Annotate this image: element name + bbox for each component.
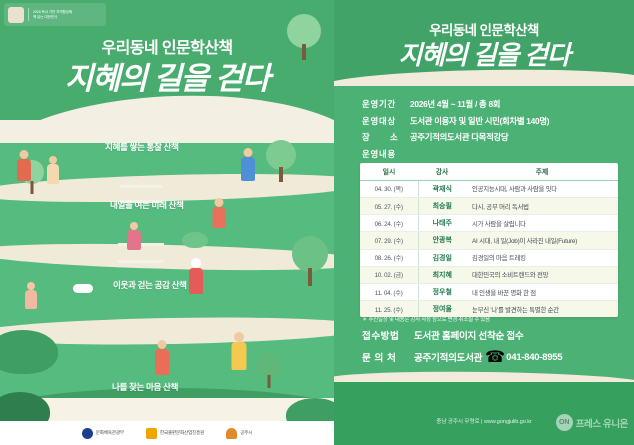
person-head xyxy=(27,282,35,290)
cell-lecturer: 최지혜 xyxy=(418,266,466,283)
person-head xyxy=(215,198,224,207)
gongju-logo-icon xyxy=(226,428,237,439)
person-figure xyxy=(22,282,40,316)
right-info-panel: 우리동네 인문학산책 지혜의 길을 걷다 운영기간 2026년 4월 ~ 11월… xyxy=(334,0,634,445)
schedule-table-body: 04. 30. (목) 곽재식 인공지능시대, 사람과 사람을 잇다 05. 2… xyxy=(360,180,618,317)
table-row: 07. 29. (수) 안광복 AI 시대, 내 일(Job)이 사라진 내일(… xyxy=(360,232,618,249)
tree-icon xyxy=(256,352,282,388)
cell-topic: AI 시대, 내 일(Job)이 사라진 내일(Future) xyxy=(466,232,618,249)
walk-label-2: 내일을 여는 미래 산책 xyxy=(110,199,184,211)
info-value: 공주기적의도서관 다목적강당 xyxy=(410,131,508,143)
cell-date: 06. 24. (수) xyxy=(360,215,418,232)
left-illustration-panel: 2026 독서 기반 지역활성화 책 읽는 대한민국 우리동네 인문학산책 지혜… xyxy=(0,0,334,445)
government-logo-icon xyxy=(82,428,93,439)
person-body xyxy=(155,349,169,375)
cell-lecturer: 정우철 xyxy=(418,283,466,300)
campaign-badge-text: 2026 독서 기반 지역활성화 책 읽는 대한민국 xyxy=(33,10,72,20)
sponsor-logo: 공주시 xyxy=(226,428,252,439)
walk-label-1: 지혜를 쌓는 통찰 산책 xyxy=(105,141,179,153)
info-key: 운영기간 xyxy=(362,98,410,110)
person-body xyxy=(241,157,255,181)
kpipa-logo-icon xyxy=(146,428,157,439)
tree-trunk xyxy=(268,375,271,388)
walk-label-4: 나를 찾는 마음 산책 xyxy=(112,381,178,393)
sponsor-name: 한국출판문화산업진흥원 xyxy=(160,430,204,436)
person-head xyxy=(20,150,29,159)
contact-block: 접수방법 도서관 홈페이지 선착순 접수 문 의 처 공주기적의도서관 ☎ 04… xyxy=(362,328,622,372)
walk-label-3: 이웃과 걷는 공감 산책 xyxy=(113,279,187,291)
info-value: 2026년 4월 ~ 11월 / 총 8회 xyxy=(410,98,500,110)
info-key: 장 소 xyxy=(362,131,410,143)
table-row: 05. 27. (수) 최승필 다시, 공부 머리 독서법 xyxy=(360,197,618,214)
table-row: 08. 26. (수) 김경일 김경일의 마음 트레킹 xyxy=(360,249,618,266)
person-figure xyxy=(210,198,228,236)
campaign-badge: 2026 독서 기반 지역활성화 책 읽는 대한민국 xyxy=(4,3,106,26)
cell-date: 10. 02. (금) xyxy=(360,266,418,283)
table-header-row: 일시 강사 주제 xyxy=(360,163,618,180)
cell-lecturer: 나태주 xyxy=(418,215,466,232)
info-row: 운영대상 도서관 이용자 및 일반 시민(회차별 140명) xyxy=(362,115,616,127)
campaign-badge-line1: 2026 독서 기반 지역활성화 xyxy=(33,10,72,15)
cell-topic: 인공지능시대, 사람과 사람을 잇다 xyxy=(466,180,618,197)
tree-icon xyxy=(287,14,321,60)
program-info-list: 운영기간 2026년 4월 ~ 11월 / 총 8회 운영대상 도서관 이용자 … xyxy=(362,98,616,164)
tree-icon xyxy=(266,140,296,182)
campaign-badge-icon xyxy=(8,7,24,23)
person-figure xyxy=(228,332,250,382)
contact-value: 공주기적의도서관 xyxy=(414,350,482,364)
schedule-table-head: 일시 강사 주제 xyxy=(360,163,618,180)
cell-topic: 김경일의 마음 트레킹 xyxy=(466,249,618,266)
person-figure xyxy=(124,222,144,258)
sponsor-logo: 문화체육관광부 xyxy=(82,428,124,439)
bush-shape xyxy=(182,232,208,248)
cell-date: 05. 27. (수) xyxy=(360,197,418,214)
person-figure xyxy=(186,258,206,302)
contact-phone-number: 041-840-8955 xyxy=(506,352,562,363)
person-head xyxy=(244,148,253,157)
person-body xyxy=(232,342,247,370)
cell-topic: 대한민국의 소비트렌드와 전망 xyxy=(466,266,618,283)
column-header-date: 일시 xyxy=(360,163,418,180)
sponsor-name: 문화체육관광부 xyxy=(96,430,124,436)
contact-key: 접수방법 xyxy=(362,328,414,342)
table-row: 11. 04. (수) 정우철 내 인생을 바꾼 명화 한 점 xyxy=(360,283,618,300)
person-head xyxy=(158,340,167,349)
tree-icon xyxy=(292,236,328,286)
left-title: 지혜의 길을 걷다 xyxy=(0,53,334,98)
column-header-lecturer: 강사 xyxy=(418,163,466,180)
bush-shape xyxy=(0,330,58,374)
sponsor-logo: 한국출판문화산업진흥원 xyxy=(146,428,204,439)
person-head xyxy=(49,156,57,164)
person-body xyxy=(47,164,59,184)
contact-row-inquiry: 문 의 처 공주기적의도서관 ☎ 041-840-8955 xyxy=(362,347,622,367)
table-row: 06. 24. (수) 나태주 시가 사람을 살립니다 xyxy=(360,215,618,232)
person-figure xyxy=(44,156,62,192)
sponsor-logo-bar: 문화체육관광부 한국출판문화산업진흥원 공주시 xyxy=(0,421,334,445)
cell-topic: 다시, 공부 머리 독서법 xyxy=(466,197,618,214)
cell-topic: 내 인생을 바꾼 명화 한 점 xyxy=(466,283,618,300)
person-body xyxy=(189,268,203,294)
cell-date: 04. 30. (목) xyxy=(360,180,418,197)
right-title: 지혜의 길을 걷다 xyxy=(334,35,634,72)
table-row: 04. 30. (목) 곽재식 인공지능시대, 사람과 사람을 잇다 xyxy=(360,180,618,197)
cell-topic: 시가 사람을 살립니다 xyxy=(466,215,618,232)
contact-row-registration: 접수방법 도서관 홈페이지 선착순 접수 xyxy=(362,328,622,342)
info-value: 도서관 이용자 및 일반 시민(회차별 140명) xyxy=(410,115,549,127)
campaign-badge-line2: 책 읽는 대한민국 xyxy=(33,15,72,20)
column-header-topic: 주제 xyxy=(466,163,618,180)
tree-crown xyxy=(292,236,328,272)
dog-figure xyxy=(72,282,94,296)
press-union-watermark: ON 프레스 유니온 xyxy=(556,414,628,431)
table-row: 10. 02. (금) 최지혜 대한민국의 소비트렌드와 전망 xyxy=(360,266,618,283)
person-figure xyxy=(152,340,172,386)
info-row: 운영내용 xyxy=(362,148,616,160)
person-body xyxy=(127,230,141,250)
info-key: 운영내용 xyxy=(362,148,410,160)
person-head xyxy=(234,332,244,342)
badge-divider xyxy=(28,8,29,21)
cell-lecturer: 곽재식 xyxy=(418,180,466,197)
schedule-table: 일시 강사 주제 04. 30. (목) 곽재식 인공지능시대, 사람과 사람을… xyxy=(360,163,618,317)
info-key: 운영대상 xyxy=(362,115,410,127)
poster: 2026 독서 기반 지역활성화 책 읽는 대한민국 우리동네 인문학산책 지혜… xyxy=(0,0,634,445)
watermark-text: 프레스 유니온 xyxy=(576,416,628,430)
dog-body xyxy=(73,284,93,293)
contact-value: 도서관 홈페이지 선착순 접수 xyxy=(414,328,523,342)
tree-crown xyxy=(266,140,296,170)
schedule-note: ＊ 추진일정 및 내용은 강사 사정 등으로 변경·취소될 수 있음 xyxy=(362,315,490,323)
phone-icon: ☎ xyxy=(485,347,505,367)
sponsor-name: 공주시 xyxy=(240,430,252,436)
tree-trunk xyxy=(279,167,283,182)
info-row: 장 소 공주기적의도서관 다목적강당 xyxy=(362,131,616,143)
cell-lecturer: 최승필 xyxy=(418,197,466,214)
person-body xyxy=(213,207,226,228)
info-row: 운영기간 2026년 4월 ~ 11월 / 총 8회 xyxy=(362,98,616,110)
tree-trunk xyxy=(308,268,312,286)
person-body xyxy=(17,159,31,181)
cell-date: 11. 04. (수) xyxy=(360,283,418,300)
person-body xyxy=(25,290,37,309)
person-figure xyxy=(238,148,258,190)
person-head xyxy=(130,222,138,230)
tree-crown xyxy=(287,14,321,48)
cell-lecturer: 안광복 xyxy=(418,232,466,249)
cell-lecturer: 김경일 xyxy=(418,249,466,266)
person-head xyxy=(191,258,201,268)
cell-date: 08. 26. (수) xyxy=(360,249,418,266)
person-figure xyxy=(14,150,34,190)
cell-date: 07. 29. (수) xyxy=(360,232,418,249)
schedule-table-wrapper: 일시 강사 주제 04. 30. (목) 곽재식 인공지능시대, 사람과 사람을… xyxy=(360,163,618,317)
tree-trunk xyxy=(302,44,306,60)
contact-key: 문 의 처 xyxy=(362,350,414,364)
watermark-mark: ON xyxy=(556,414,573,431)
